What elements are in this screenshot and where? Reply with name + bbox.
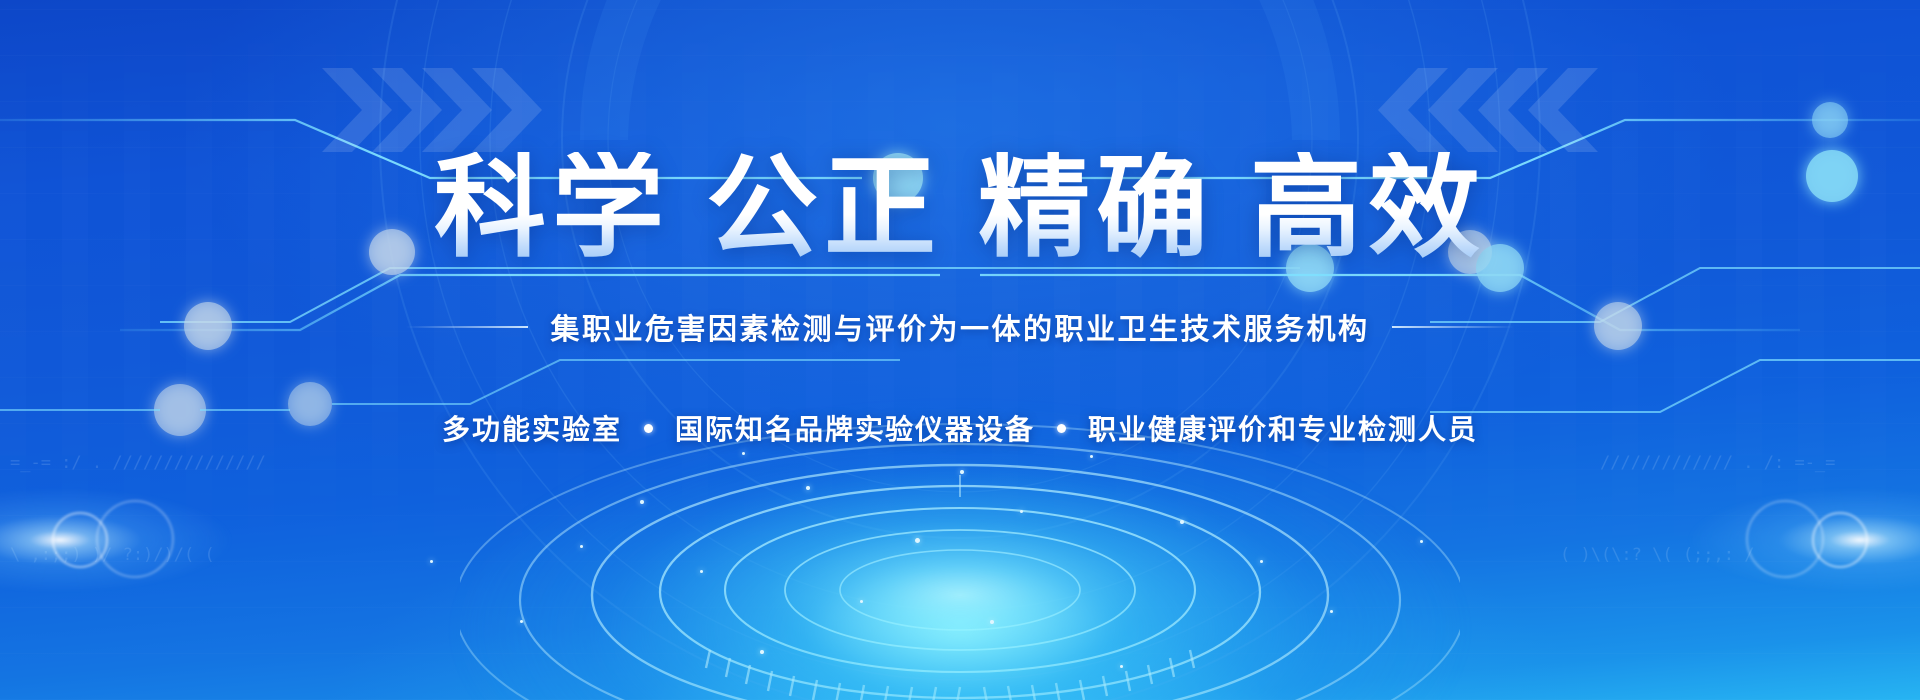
flare-ring-left-b <box>96 500 174 578</box>
svg-text:///////////// . /: =-_=: ///////////// . /: =-_= <box>1600 453 1835 473</box>
svg-text:=_-= :/ . ///////////////: =_-= :/ . /////////////// <box>10 453 266 473</box>
tagline-item-2: 国际知名品牌实验仪器设备 <box>675 408 1035 448</box>
bullet-separator-icon <box>644 424 653 433</box>
bullet-separator-icon <box>1057 424 1066 433</box>
headline-word-1: 科学 <box>434 143 670 273</box>
headline-word-3: 精确 <box>978 143 1214 273</box>
banner-content: 科学公正精确高效 集职业危害因素检测与评价为一体的职业卫生技术服务机构 多功能实… <box>0 0 1920 448</box>
headline-word-4: 高效 <box>1250 143 1486 273</box>
headline-word-2: 公正 <box>706 143 942 273</box>
divider-rule-left <box>406 326 528 328</box>
page-title: 科学公正精确高效 <box>434 152 1486 264</box>
divider-rule-right <box>1392 326 1514 328</box>
tagline-item-3: 职业健康评价和专业检测人员 <box>1088 408 1478 448</box>
subtitle-text: 集职业危害因素检测与评价为一体的职业卫生技术服务机构 <box>550 306 1369 348</box>
tagline-item-1: 多功能实验室 <box>442 408 622 448</box>
hero-banner: =_-= :/ . /////////////// \ ,:;;) )/ ?:)… <box>0 0 1920 700</box>
tagline-row: 多功能实验室 国际知名品牌实验仪器设备 职业健康评价和专业检测人员 <box>442 408 1478 448</box>
subtitle-row: 集职业危害因素检测与评价为一体的职业卫生技术服务机构 <box>406 306 1513 348</box>
flare-ring-right-b <box>1746 500 1824 578</box>
